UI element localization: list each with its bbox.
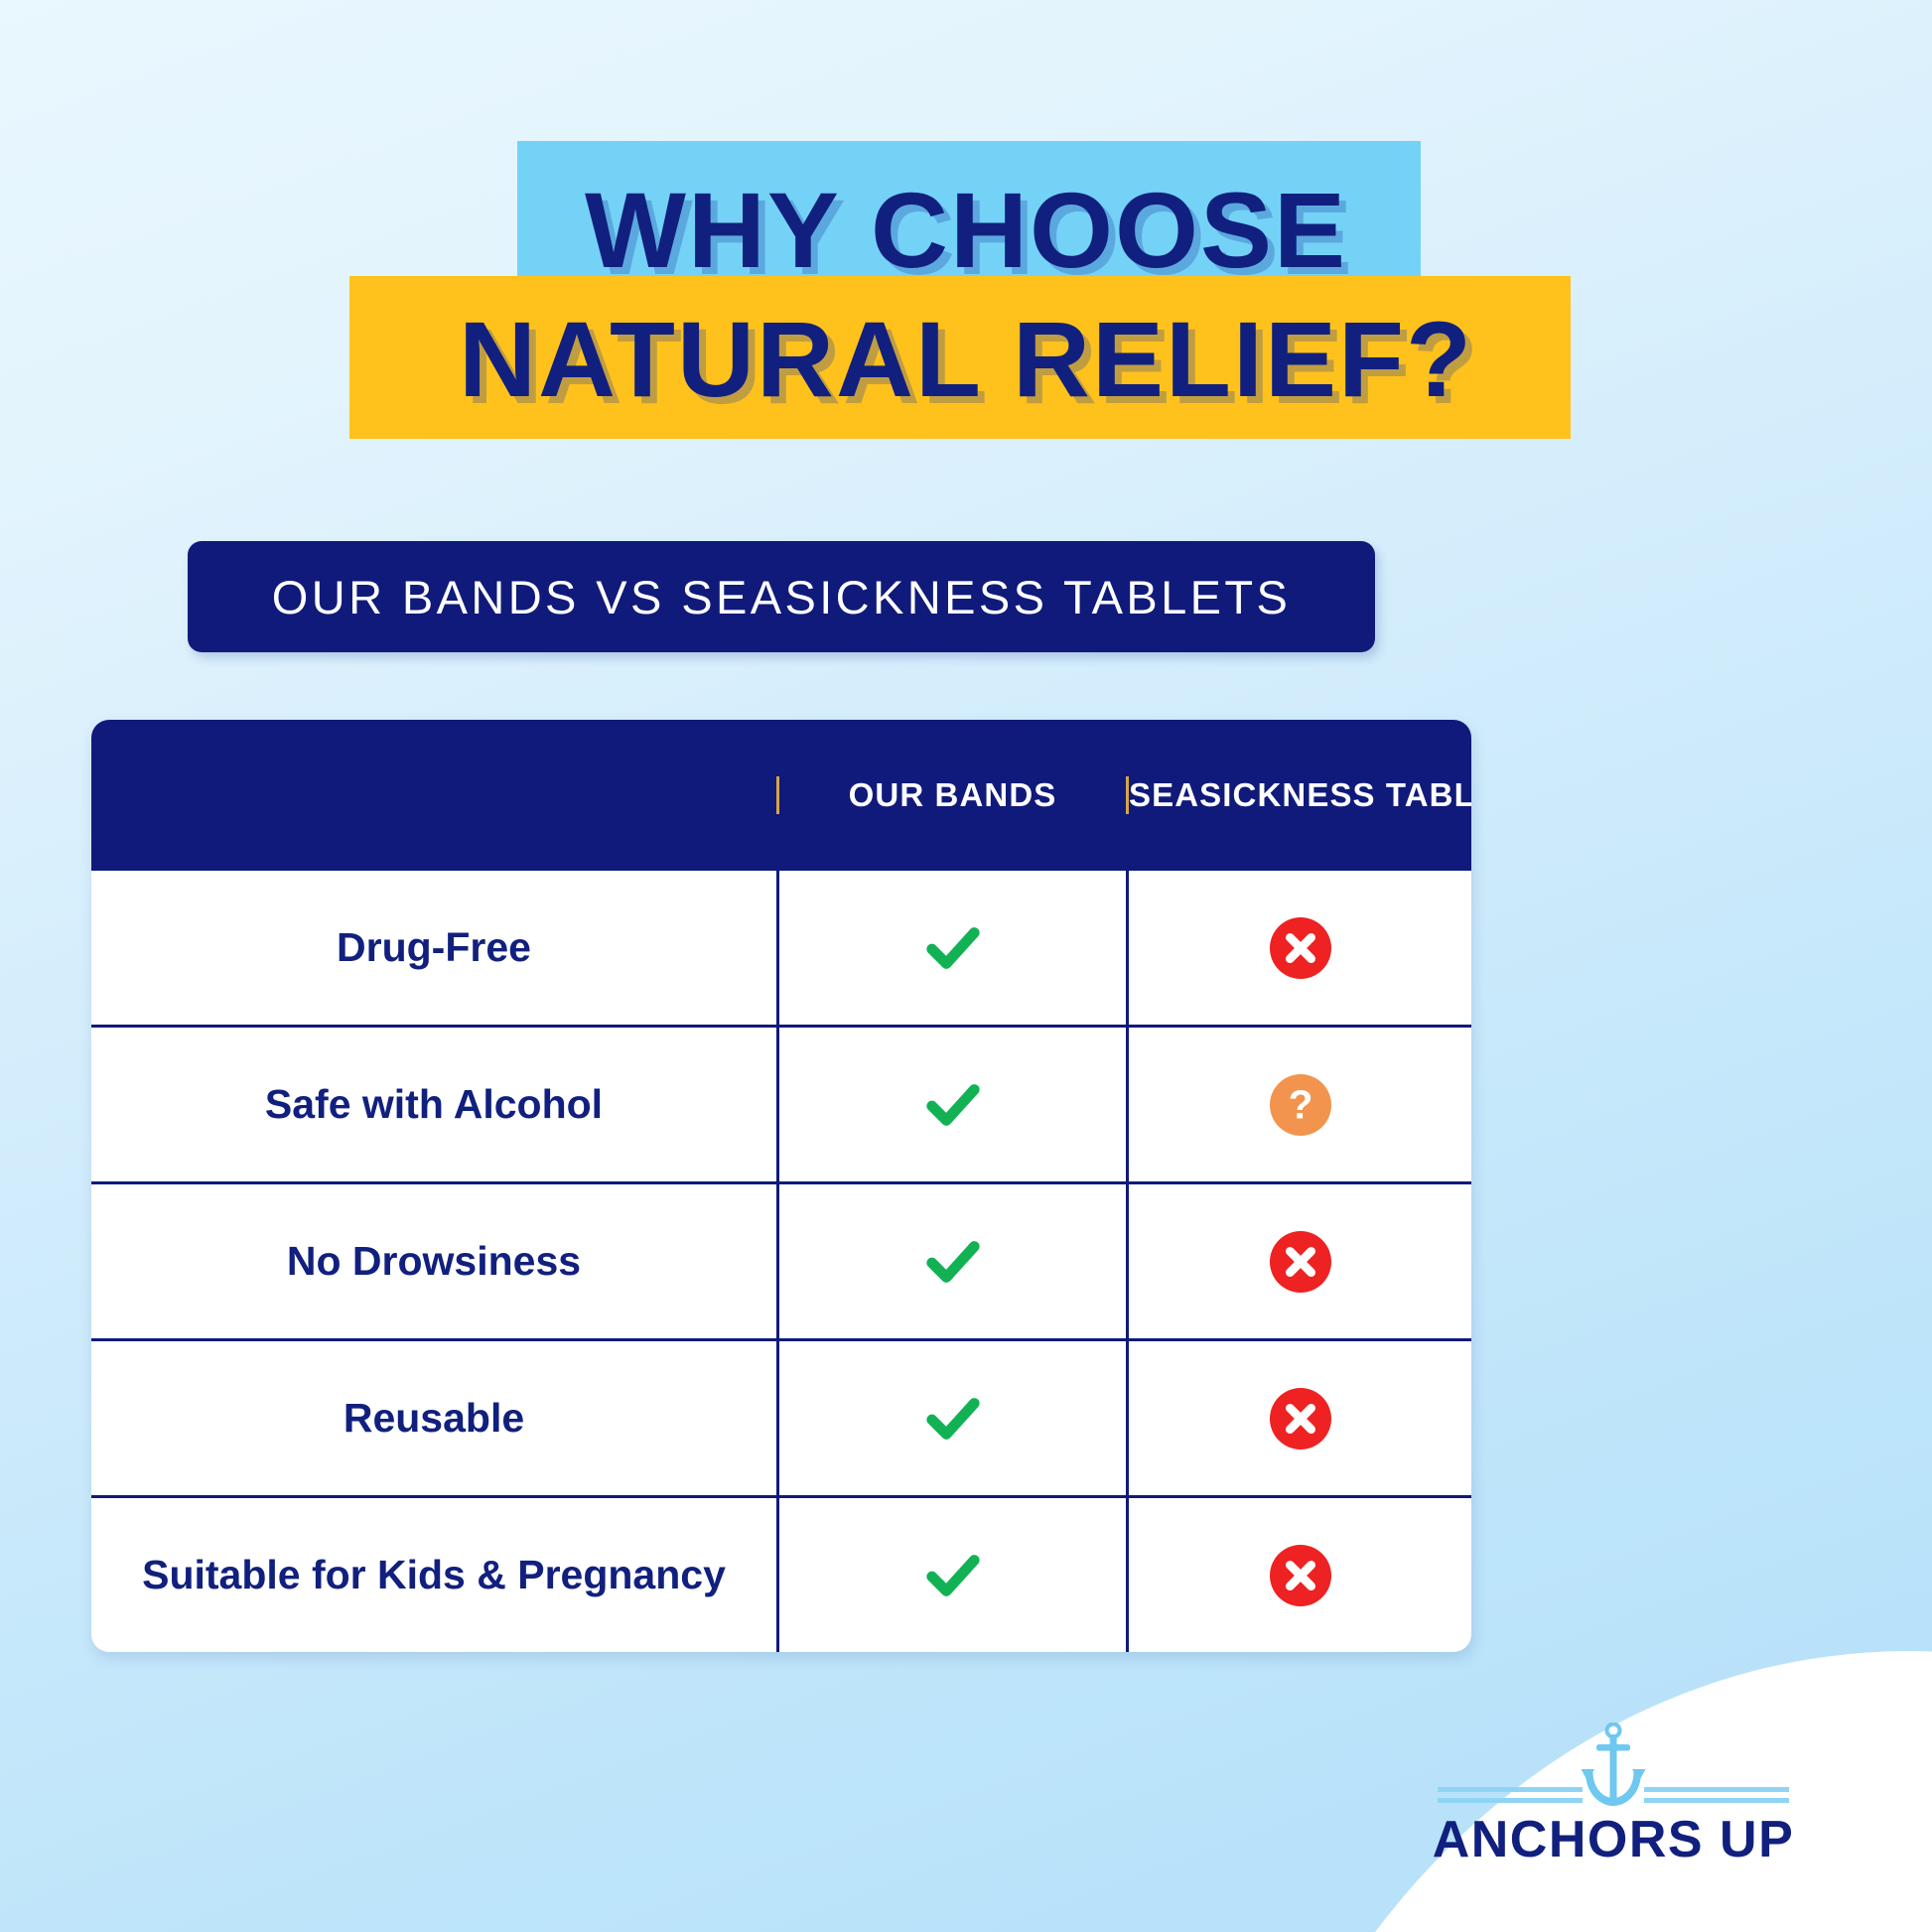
logo-wordmark: ANCHORS UP [1420,1810,1807,1869]
headline-line-1: WHY CHOOSE [0,177,1932,284]
feature-label: Drug-Free [337,923,531,971]
logo-rule-right-top [1644,1787,1789,1792]
cross-icon [1270,1231,1331,1293]
headline-line-1-text: WHY CHOOSE [585,170,1347,290]
headline-line-2: NATURAL RELIEF? [0,306,1932,413]
table-cell-our-bands [776,871,1126,1025]
table-cell-seasickness-tablets [1126,1498,1471,1652]
table-cell-our-bands [776,1184,1126,1338]
table-cell-seasickness-tablets [1126,871,1471,1025]
subtitle-banner: OUR BANDS VS SEASICKNESS TABLETS [188,541,1375,652]
feature-label: No Drowsiness [287,1237,581,1285]
check-icon [922,1074,984,1136]
brand-logo: ANCHORS UP [1420,1723,1807,1869]
table-row: Reusable [91,1341,1471,1498]
table-row: Drug-Free [91,871,1471,1028]
question-icon: ? [1270,1074,1331,1136]
table-header-row: OUR BANDS SEASICKNESS TABLETS [91,720,1471,871]
cross-icon [1270,1545,1331,1606]
feature-label: Safe with Alcohol [265,1080,603,1128]
logo-rule-left-top [1438,1787,1583,1792]
cross-icon [1270,1388,1331,1449]
table-cell-feature: Drug-Free [91,871,776,1025]
table-header-seasickness-tablets: SEASICKNESS TABLETS [1126,776,1471,814]
infographic-poster: WHY CHOOSE NATURAL RELIEF? OUR BANDS VS … [0,0,1932,1932]
svg-text:?: ? [1288,1081,1312,1127]
table-row: Safe with Alcohol? [91,1028,1471,1184]
check-icon [922,1545,984,1606]
logo-rule-left-bottom [1438,1798,1583,1803]
check-icon [922,1231,984,1293]
table-cell-seasickness-tablets: ? [1126,1028,1471,1181]
headline-line-2-band: NATURAL RELIEF? [459,306,1473,413]
table-cell-feature: Safe with Alcohol [91,1028,776,1181]
table-row: Suitable for Kids & Pregnancy [91,1498,1471,1652]
table-cell-our-bands [776,1028,1126,1181]
table-cell-seasickness-tablets [1126,1184,1471,1338]
check-icon [922,917,984,979]
table-cell-our-bands [776,1498,1126,1652]
table-cell-our-bands [776,1341,1126,1495]
table-cell-feature: Reusable [91,1341,776,1495]
check-icon [922,1388,984,1449]
cross-icon [1270,917,1331,979]
feature-label: Reusable [344,1394,524,1442]
headline-line-2-text: NATURAL RELIEF? [459,299,1473,419]
logo-rule-right-bottom [1644,1798,1789,1803]
table-row: No Drowsiness [91,1184,1471,1341]
logo-rule-lines [1420,1784,1807,1806]
headline-line-1-band: WHY CHOOSE [585,177,1347,284]
table-cell-feature: No Drowsiness [91,1184,776,1338]
comparison-table: OUR BANDS SEASICKNESS TABLETS Drug-FreeS… [91,720,1471,1652]
table-cell-feature: Suitable for Kids & Pregnancy [91,1498,776,1652]
table-cell-seasickness-tablets [1126,1341,1471,1495]
headline-block: WHY CHOOSE NATURAL RELIEF? [0,177,1932,413]
table-body: Drug-FreeSafe with Alcohol?No Drowsiness… [91,871,1471,1652]
subtitle-text: OUR BANDS VS SEASICKNESS TABLETS [272,570,1291,624]
table-header-our-bands: OUR BANDS [776,776,1126,814]
feature-label: Suitable for Kids & Pregnancy [142,1551,726,1598]
